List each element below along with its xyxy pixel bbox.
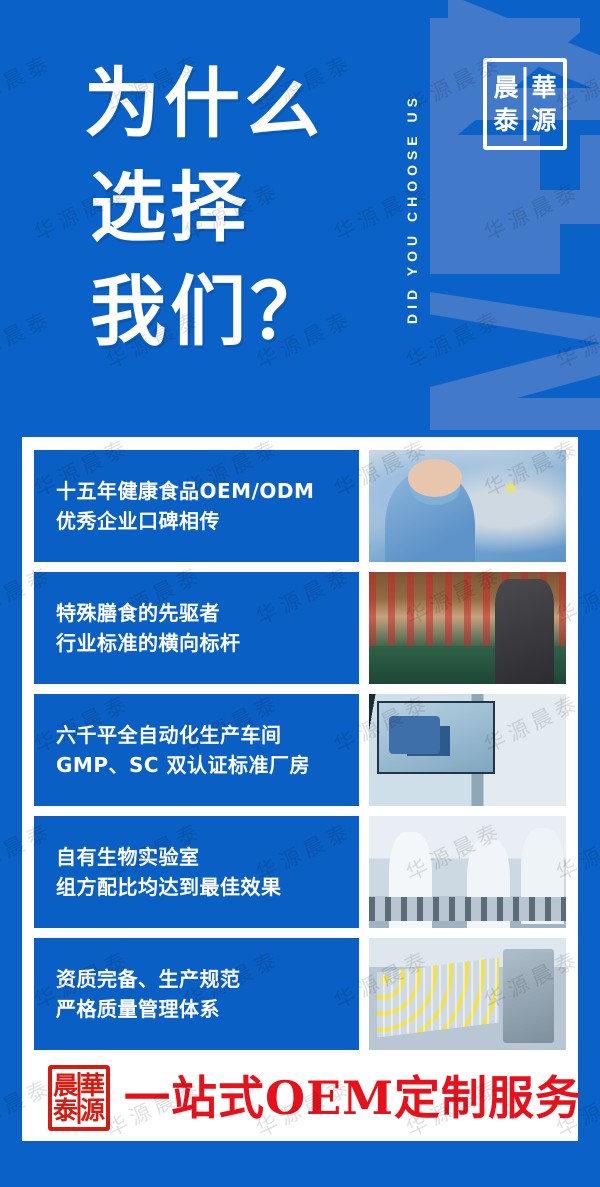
feature-card-5-line-2: 严格质量管理体系 <box>56 994 359 1024</box>
cleanroom-corridor-photo <box>369 694 566 806</box>
vertical-english-subtitle: DID YOU CHOOSE US <box>404 18 430 400</box>
feature-card-5-text: 资质完备、生产规范 严格质量管理体系 <box>34 938 359 1050</box>
seal-char-chen: 晨 <box>493 75 518 100</box>
seal-bottom-left-column: 晨 泰 <box>52 1069 79 1127</box>
seal-char-yuan: 源 <box>531 108 556 133</box>
feature-card-3-line-2: GMP、SC 双认证标准厂房 <box>56 750 359 780</box>
watermark-text: 华源晨泰 <box>479 175 586 248</box>
seal-left-column: 晨 泰 <box>487 62 525 146</box>
feature-card-2: 特殊膳食的先驱者 行业标准的横向标杆 <box>34 572 566 684</box>
headline-line-2: 选择 <box>84 156 330 260</box>
feature-card-5: 资质完备、生产规范 严格质量管理体系 <box>34 938 566 1050</box>
seal-bottom-char-yuan: 源 <box>80 1098 105 1123</box>
headline-line-3: 我们？ <box>84 260 330 364</box>
workers-production-line-photo <box>369 816 566 928</box>
features-panel: 十五年健康食品OEM/ODM 优秀企业口碑相传 特殊膳食的先驱者 行业标准的横向… <box>22 437 578 1141</box>
feature-card-1-text: 十五年健康食品OEM/ODM 优秀企业口碑相传 <box>34 450 359 562</box>
feature-card-3-line-1: 六千平全自动化生产车间 <box>56 720 359 750</box>
seal-right-column: 華 源 <box>525 62 563 146</box>
feature-card-4-line-1: 自有生物实验室 <box>56 842 359 872</box>
feature-card-5-line-1: 资质完备、生产规范 <box>56 964 359 994</box>
feature-card-3-text: 六千平全自动化生产车间 GMP、SC 双认证标准厂房 <box>34 694 359 806</box>
brand-seal-bottom: 晨 泰 華 源 <box>48 1065 110 1131</box>
seal-bottom-char-hua: 華 <box>80 1073 105 1098</box>
poster-root: 为什么 选择 我们？ DID YOU CHOOSE US 晨 泰 華 源 十五年… <box>0 0 600 1187</box>
banner-slogan: 一站式OEM定制服务 <box>124 1075 582 1121</box>
watermark-text: 华源晨泰 <box>551 303 600 376</box>
feature-card-4-line-2: 组方配比均达到最佳效果 <box>56 872 359 902</box>
seal-char-hua: 華 <box>531 75 556 100</box>
lab-technician-pipetting-photo <box>369 450 566 562</box>
page-title: 为什么 选择 我们？ <box>84 52 330 364</box>
bottom-banner: 晨 泰 華 源 一站式OEM定制服务 <box>22 1055 578 1141</box>
blister-packing-machine-photo <box>369 938 566 1050</box>
seal-bottom-char-tai: 泰 <box>53 1098 78 1123</box>
seal-bottom-char-chen: 晨 <box>53 1073 78 1098</box>
feature-card-2-line-2: 行业标准的横向标杆 <box>56 628 359 658</box>
seal-icon-red: 晨 泰 華 源 <box>48 1065 110 1131</box>
feature-card-4-text: 自有生物实验室 组方配比均达到最佳效果 <box>34 816 359 928</box>
watermark-text: 华源晨泰 <box>0 303 57 376</box>
brand-seal-top: 晨 泰 華 源 <box>483 58 567 150</box>
seal-bottom-right-column: 華 源 <box>79 1069 106 1127</box>
feature-card-1-line-1: 十五年健康食品OEM/ODM <box>56 476 359 506</box>
feature-card-4: 自有生物实验室 组方配比均达到最佳效果 <box>34 816 566 928</box>
feature-card-3: 六千平全自动化生产车间 GMP、SC 双认证标准厂房 <box>34 694 566 806</box>
feature-card-1: 十五年健康食品OEM/ODM 优秀企业口碑相传 <box>34 450 566 562</box>
headline-line-1: 为什么 <box>84 52 330 156</box>
conference-audience-photo <box>369 572 566 684</box>
feature-card-2-line-1: 特殊膳食的先驱者 <box>56 598 359 628</box>
seal-char-tai: 泰 <box>493 108 518 133</box>
seal-icon: 晨 泰 華 源 <box>483 58 567 150</box>
feature-card-1-line-2: 优秀企业口碑相传 <box>56 506 359 536</box>
feature-card-2-text: 特殊膳食的先驱者 行业标准的横向标杆 <box>34 572 359 684</box>
watermark-text: 华源晨泰 <box>0 47 57 120</box>
